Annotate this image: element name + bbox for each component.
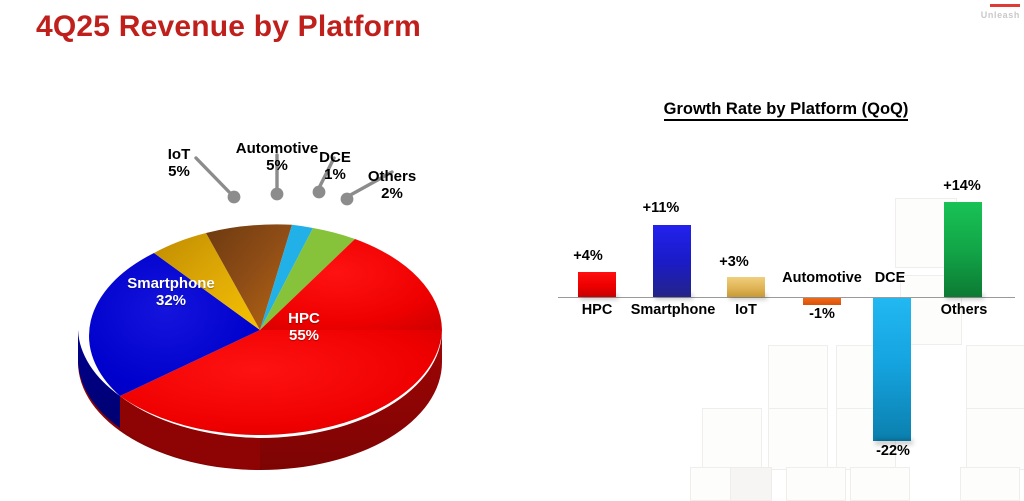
bar-value-hpc: +4% xyxy=(558,248,618,264)
bar-category-iot: IoT xyxy=(716,302,776,318)
bar-category-others: Others xyxy=(926,302,1002,318)
pie-label-smartphone: Smartphone 32% xyxy=(106,275,236,310)
bar-value-iot: +3% xyxy=(700,254,768,270)
page-title: 4Q25 Revenue by Platform xyxy=(36,10,421,44)
bar-others xyxy=(944,202,982,297)
pie-label-hpc: HPC 55% xyxy=(266,310,342,345)
brand-rule-icon xyxy=(990,4,1020,7)
bar-category-dce: DCE xyxy=(844,270,936,286)
bar-automotive xyxy=(803,298,841,305)
slide-canvas: 4Q25 Revenue by Platform Unleash xyxy=(0,0,1024,499)
revenue-pie-chart: IoT 5% Automotive 5% DCE 1% Others 2% Sm… xyxy=(0,120,520,460)
bar-value-others: +14% xyxy=(926,178,998,194)
bar-dce xyxy=(873,298,911,441)
bar-smartphone xyxy=(653,225,691,297)
growth-rate-bar-chart: Growth Rate by Platform (QoQ) +4% HPC +1… xyxy=(548,96,1024,496)
bar-value-smartphone: +11% xyxy=(626,200,696,216)
brand-text: Unleash xyxy=(981,10,1020,20)
pie-callout-others: Others 2% xyxy=(356,169,428,203)
pie-callout-iot: IoT 5% xyxy=(146,147,212,181)
bar-chart-title: Growth Rate by Platform (QoQ) xyxy=(548,100,1024,119)
bar-value-automotive: -1% xyxy=(792,306,852,322)
bar-hpc xyxy=(578,272,616,297)
bar-category-smartphone: Smartphone xyxy=(614,302,732,318)
brand-logo: Unleash xyxy=(981,4,1020,20)
bar-value-dce: -22% xyxy=(860,443,926,459)
